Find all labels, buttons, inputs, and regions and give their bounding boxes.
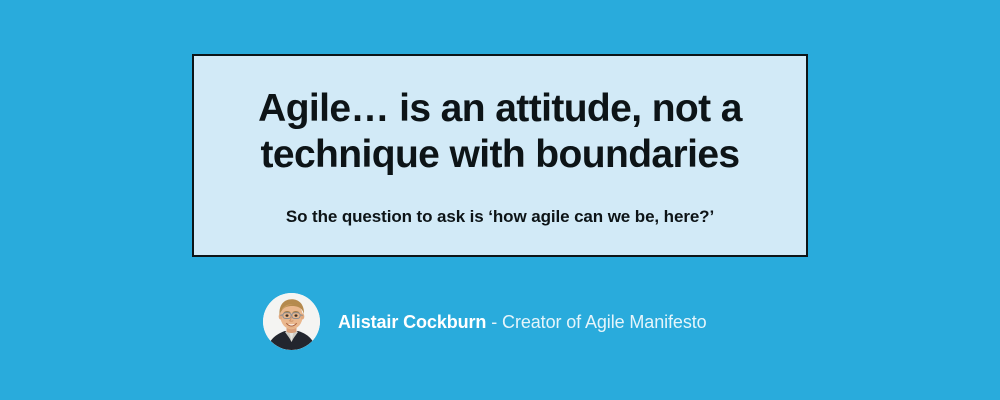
quote-slide: Agile… is an attitude, not a technique w…: [0, 0, 1000, 400]
attribution-separator: -: [486, 312, 502, 332]
avatar-photo-icon: [263, 293, 320, 350]
attribution-role: Creator of Agile Manifesto: [502, 312, 707, 332]
attribution-text: Alistair Cockburn - Creator of Agile Man…: [338, 310, 707, 334]
quote-subheadline: So the question to ask is ‘how agile can…: [194, 178, 806, 228]
quote-headline: Agile… is an attitude, not a technique w…: [194, 56, 806, 178]
avatar: [263, 293, 320, 350]
attribution-name: Alistair Cockburn: [338, 312, 486, 332]
quote-card: Agile… is an attitude, not a technique w…: [192, 54, 808, 257]
attribution: Alistair Cockburn - Creator of Agile Man…: [263, 293, 707, 350]
